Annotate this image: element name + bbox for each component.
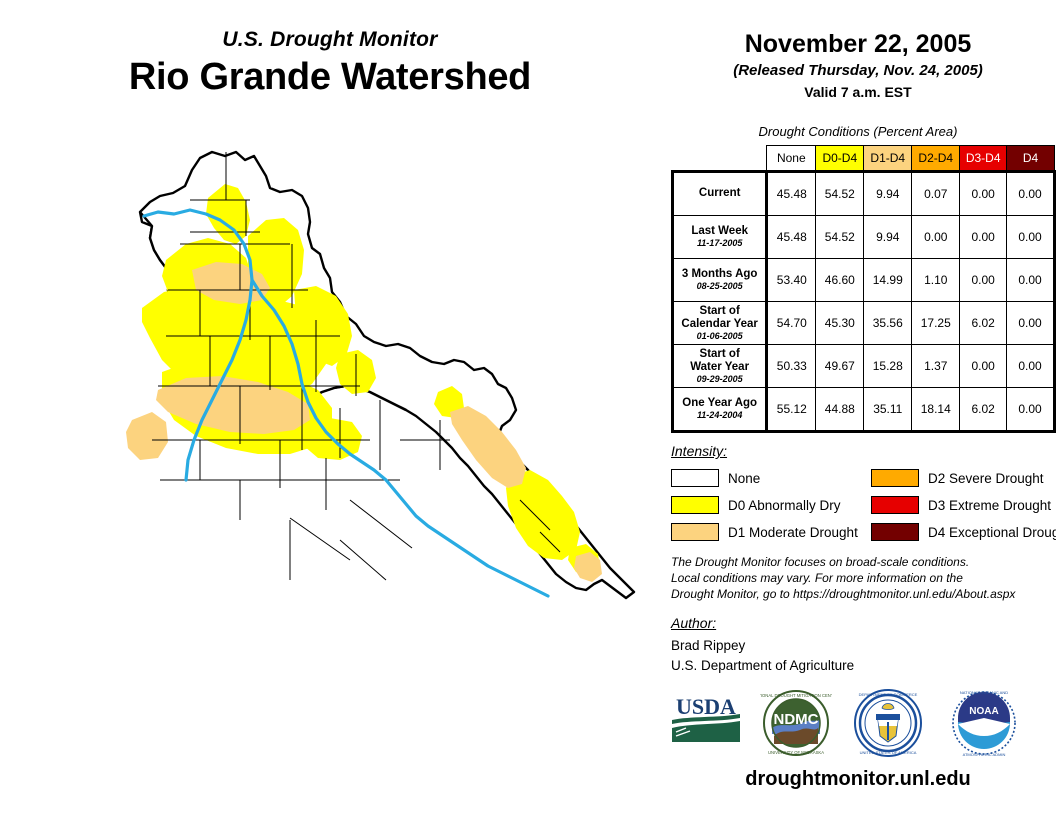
ndmc-logo: NDMC NATIONAL DROUGHT MITIGATION CENTER … — [760, 688, 832, 763]
table-cell: 18.14 — [912, 388, 960, 432]
legend-item: D4 Exceptional Drought — [871, 520, 1056, 544]
table-cell: 54.52 — [816, 216, 864, 259]
row-label: Start ofCalendar Year01-06-2005 — [673, 302, 767, 345]
legend-label: D0 Abnormally Dry — [728, 498, 841, 513]
row-label-line: 3 Months Ago — [676, 268, 763, 281]
row-label-date: 11-24-2004 — [676, 410, 763, 420]
table-cell: 0.00 — [1007, 388, 1055, 432]
legend-label: D2 Severe Drought — [928, 471, 1044, 486]
table-column-header-none: None — [767, 146, 816, 172]
legend-item: D3 Extreme Drought — [871, 493, 1056, 517]
region-none — [40, 140, 640, 800]
table-cell: 17.25 — [912, 302, 960, 345]
row-label-line: Start of — [676, 348, 763, 361]
table-cell: 6.02 — [960, 302, 1007, 345]
row-label-line: Calendar Year — [676, 318, 763, 331]
notes-line-3[interactable]: Drought Monitor, go to https://droughtmo… — [671, 586, 1015, 602]
svg-text:NATIONAL DROUGHT MITIGATION CE: NATIONAL DROUGHT MITIGATION CENTER — [760, 693, 832, 698]
row-label: Last Week11-17-2005 — [673, 216, 767, 259]
website-url[interactable]: droughtmonitor.unl.edu — [660, 768, 1056, 791]
table-cell: 46.60 — [816, 259, 864, 302]
table-cell: 15.28 — [864, 345, 912, 388]
author-org: U.S. Department of Agriculture — [671, 656, 854, 676]
table-row: Current45.4854.529.940.070.000.00 — [673, 172, 1055, 216]
row-label: Start ofWater Year09-29-2005 — [673, 345, 767, 388]
svg-text:USDA: USDA — [676, 694, 736, 719]
svg-text:NDMC: NDMC — [774, 711, 819, 728]
author-name: Brad Rippey — [671, 636, 854, 656]
logo-row: USDA NDMC NATIONAL DROUGHT MITIGATION CE… — [660, 688, 1056, 760]
table-cell: 45.30 — [816, 302, 864, 345]
table-column-header-d4: D4 — [1007, 146, 1055, 172]
legend-item: D0 Abnormally Dry — [671, 493, 858, 517]
legend-label: None — [728, 471, 760, 486]
legend-label: D3 Extreme Drought — [928, 498, 1051, 513]
legend-item: None — [671, 466, 858, 490]
legend-column-right: D2 Severe DroughtD3 Extreme DroughtD4 Ex… — [871, 466, 1056, 547]
table-header: NoneD0-D4D1-D4D2-D4D3-D4D4 — [673, 146, 1055, 172]
table-body: Current45.4854.529.940.070.000.00Last We… — [673, 172, 1055, 432]
page-title: Rio Grande Watershed — [0, 56, 660, 99]
row-label-line: One Year Ago — [676, 397, 763, 410]
svg-text:NATIONAL OCEANIC AND: NATIONAL OCEANIC AND — [960, 690, 1008, 695]
legend-column-left: NoneD0 Abnormally DryD1 Moderate Drought — [671, 466, 858, 547]
report-date: November 22, 2005 — [660, 30, 1056, 59]
intensity-heading: Intensity: — [671, 443, 727, 459]
table-cell: 45.48 — [767, 216, 816, 259]
drought-map — [40, 140, 640, 800]
table-cell: 14.99 — [864, 259, 912, 302]
table-cell: 0.00 — [1007, 259, 1055, 302]
svg-text:ATMOSPHERIC ADMIN: ATMOSPHERIC ADMIN — [963, 752, 1006, 757]
svg-text:UNITED STATES OF AMERICA: UNITED STATES OF AMERICA — [860, 750, 917, 755]
table-cell: 35.56 — [864, 302, 912, 345]
notes-line-1: The Drought Monitor focuses on broad-sca… — [671, 554, 1015, 570]
table-cell: 1.10 — [912, 259, 960, 302]
date-block: November 22, 2005 (Released Thursday, No… — [660, 30, 1056, 100]
table-cell: 44.88 — [816, 388, 864, 432]
row-label: One Year Ago11-24-2004 — [673, 388, 767, 432]
table-cell: 0.00 — [1007, 216, 1055, 259]
table-column-header-d2-d4: D2-D4 — [912, 146, 960, 172]
row-label-date: 08-25-2005 — [676, 281, 763, 291]
drought-conditions-table: NoneD0-D4D1-D4D2-D4D3-D4D4 Current45.485… — [671, 145, 1056, 433]
author-block: Brad Rippey U.S. Department of Agricultu… — [671, 636, 854, 675]
row-label-line: Start of — [676, 305, 763, 318]
ndmc-logo-icon: NDMC NATIONAL DROUGHT MITIGATION CENTER … — [760, 688, 832, 758]
usdc-logo: DEPARTMENT OF COMMERCE UNITED STATES OF … — [852, 688, 924, 763]
table-column-header-d1-d4: D1-D4 — [864, 146, 912, 172]
legend-swatch — [671, 469, 719, 487]
table-row: Start ofCalendar Year01-06-200554.7045.3… — [673, 302, 1055, 345]
usdc-logo-icon: DEPARTMENT OF COMMERCE UNITED STATES OF … — [852, 688, 924, 758]
table-cell: 54.70 — [767, 302, 816, 345]
page-subtitle: U.S. Drought Monitor — [0, 28, 660, 52]
table-cell: 9.94 — [864, 216, 912, 259]
legend-item: D2 Severe Drought — [871, 466, 1056, 490]
table-cell: 0.00 — [960, 259, 1007, 302]
noaa-logo-icon: NOAA NATIONAL OCEANIC AND ATMOSPHERIC AD… — [948, 688, 1020, 758]
noaa-logo: NOAA NATIONAL OCEANIC AND ATMOSPHERIC AD… — [948, 688, 1020, 763]
table-cell: 0.00 — [960, 216, 1007, 259]
table-cell: 54.52 — [816, 172, 864, 216]
table-cell: 0.00 — [912, 216, 960, 259]
table-column-header-d0-d4: D0-D4 — [816, 146, 864, 172]
legend-item: D1 Moderate Drought — [671, 520, 858, 544]
row-label-line: Last Week — [676, 225, 763, 238]
table-row: Last Week11-17-200545.4854.529.940.000.0… — [673, 216, 1055, 259]
header-blank-cell — [673, 146, 767, 172]
table-cell: 0.00 — [960, 172, 1007, 216]
table-cell: 0.00 — [960, 345, 1007, 388]
svg-text:NOAA: NOAA — [969, 706, 998, 717]
table-row: Start ofWater Year09-29-200550.3349.6715… — [673, 345, 1055, 388]
disclaimer-notes: The Drought Monitor focuses on broad-sca… — [671, 554, 1015, 603]
row-label-date: 11-17-2005 — [676, 238, 763, 248]
table-caption: Drought Conditions (Percent Area) — [660, 124, 1056, 139]
watershed-detail — [126, 152, 634, 598]
usda-logo: USDA — [670, 692, 742, 753]
table-cell: 49.67 — [816, 345, 864, 388]
row-label-line: Current — [676, 187, 763, 200]
valid-time: Valid 7 a.m. EST — [660, 84, 1056, 100]
notes-line-2: Local conditions may vary. For more info… — [671, 570, 1015, 586]
row-label-line: Water Year — [676, 361, 763, 374]
table-cell: 45.48 — [767, 172, 816, 216]
legend-swatch — [871, 496, 919, 514]
table-row: One Year Ago11-24-200455.1244.8835.1118.… — [673, 388, 1055, 432]
table-cell: 0.00 — [1007, 302, 1055, 345]
legend-label: D4 Exceptional Drought — [928, 525, 1056, 540]
legend-swatch — [871, 523, 919, 541]
table-cell: 0.00 — [1007, 172, 1055, 216]
table-cell: 55.12 — [767, 388, 816, 432]
legend-swatch — [671, 523, 719, 541]
svg-text:DEPARTMENT OF COMMERCE: DEPARTMENT OF COMMERCE — [859, 692, 918, 697]
table-cell: 50.33 — [767, 345, 816, 388]
table-column-header-d3-d4: D3-D4 — [960, 146, 1007, 172]
legend-label: D1 Moderate Drought — [728, 525, 858, 540]
map-drought-regions — [40, 140, 640, 800]
table-cell: 53.40 — [767, 259, 816, 302]
table-cell: 0.00 — [1007, 345, 1055, 388]
table-header-row: NoneD0-D4D1-D4D2-D4D3-D4D4 — [673, 146, 1055, 172]
row-label: Current — [673, 172, 767, 216]
table-row: 3 Months Ago08-25-200553.4046.6014.991.1… — [673, 259, 1055, 302]
table-cell: 35.11 — [864, 388, 912, 432]
release-date: (Released Thursday, Nov. 24, 2005) — [660, 62, 1056, 79]
row-label-date: 09-29-2005 — [676, 374, 763, 384]
svg-text:UNIVERSITY OF NEBRASKA: UNIVERSITY OF NEBRASKA — [768, 750, 824, 755]
table-cell: 1.37 — [912, 345, 960, 388]
table-cell: 9.94 — [864, 172, 912, 216]
map-svg — [40, 140, 640, 800]
usda-logo-icon: USDA — [670, 692, 742, 748]
author-heading: Author: — [671, 615, 716, 631]
title-block: U.S. Drought Monitor Rio Grande Watershe… — [0, 28, 660, 99]
legend-swatch — [871, 469, 919, 487]
table-cell: 0.07 — [912, 172, 960, 216]
table-cell: 6.02 — [960, 388, 1007, 432]
row-label-date: 01-06-2005 — [676, 331, 763, 341]
row-label: 3 Months Ago08-25-2005 — [673, 259, 767, 302]
legend-swatch — [671, 496, 719, 514]
